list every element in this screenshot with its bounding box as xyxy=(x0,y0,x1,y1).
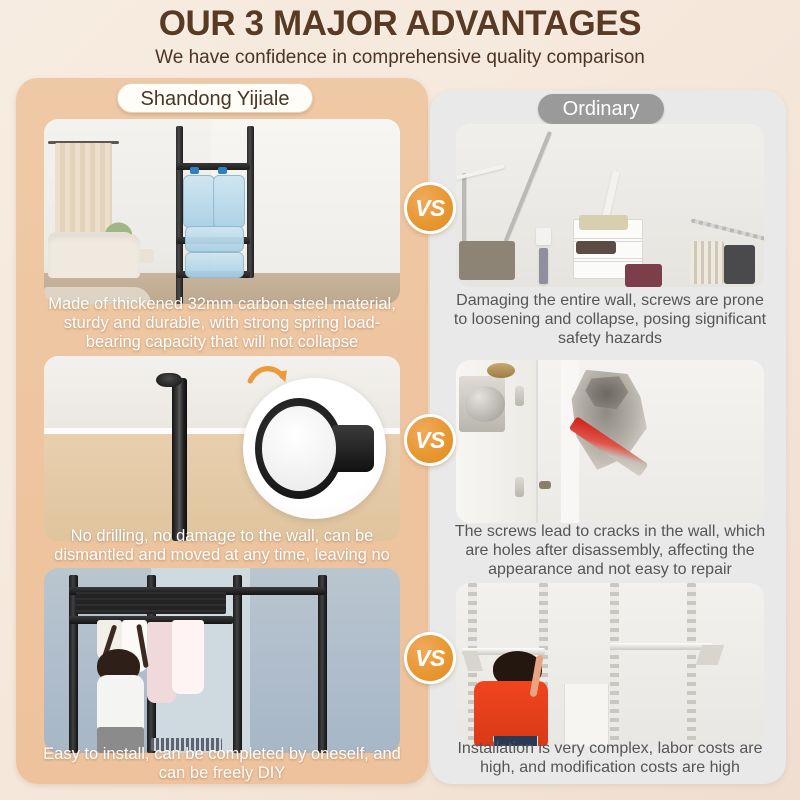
ordinary-caption-1: Damaging the entire wall, screws are pro… xyxy=(452,291,768,348)
woman-hanging-clothes-on-rack-photo xyxy=(44,568,400,753)
page-title: OUR 3 MAJOR ADVANTAGES xyxy=(0,4,800,44)
collapsed-closet-rails-photo xyxy=(456,124,764,287)
water-jug-rack-in-living-room-photo xyxy=(44,119,400,304)
vs-badge-row-1: VS xyxy=(404,182,456,234)
cracked-wall-screw-hole-photo xyxy=(456,360,764,523)
vs-badge-row-3: VS xyxy=(404,632,456,684)
brand-label-shandong-yijiale: Shandong Yijiale xyxy=(117,83,313,113)
advantage-caption-3: Easy to install, can be completed by one… xyxy=(40,745,404,783)
ordinary-caption-3: Installation is very complex, labor cost… xyxy=(452,739,768,777)
worker-installing-wall-shelves-photo xyxy=(456,583,764,746)
tension-pole-ceiling-pad-photo xyxy=(44,356,400,541)
page-subtitle: We have confidence in comprehensive qual… xyxy=(0,46,800,70)
page-header: OUR 3 MAJOR ADVANTAGES We have confidenc… xyxy=(0,0,800,72)
advantage-caption-1: Made of thickened 32mm carbon steel mate… xyxy=(40,295,404,352)
curved-arrow-icon xyxy=(229,363,307,404)
vs-badge-row-2: VS xyxy=(404,414,456,466)
ordinary-caption-2: The screws lead to cracks in the wall, w… xyxy=(452,522,768,579)
brand-label-ordinary: Ordinary xyxy=(538,94,664,124)
